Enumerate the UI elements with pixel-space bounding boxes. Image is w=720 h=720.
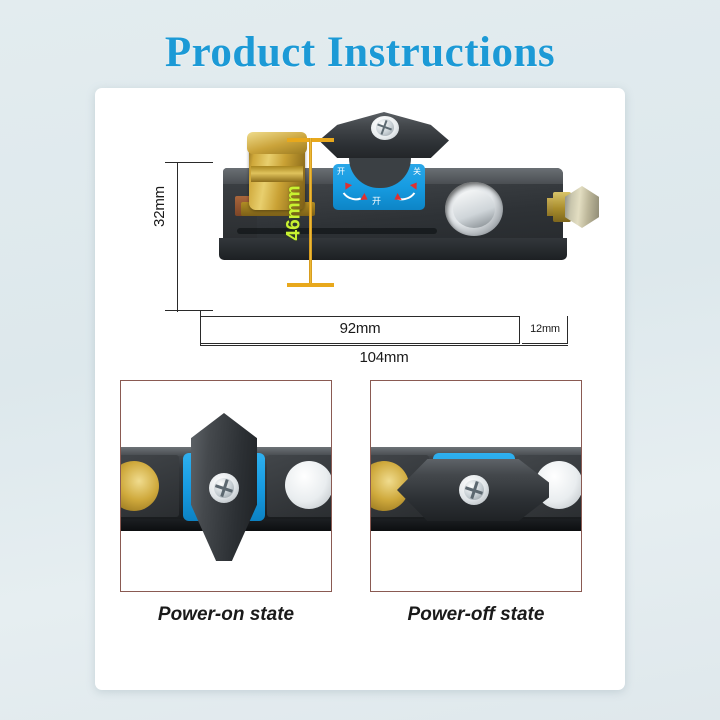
dimension-label-tail-length: 12mm — [522, 323, 568, 335]
main-product-figure: 32mm 开 关 开 — [115, 102, 607, 370]
dimension-ext-height-bottom — [177, 310, 213, 311]
panel-power-on: 关 开 — [120, 380, 332, 592]
panel-on-mounting-hole — [285, 461, 332, 509]
brass-terminal-hex-top — [247, 132, 307, 154]
caption-power-on: Power-on state — [120, 604, 332, 626]
switch-base-lip — [219, 238, 567, 260]
brass-terminal-collar — [251, 166, 303, 182]
dimension-line-knob-height — [309, 138, 312, 286]
caption-power-off: Power-off state — [370, 604, 582, 626]
label-char-off-right: 关 — [413, 166, 421, 177]
dimension-tick-knob-bottom — [287, 283, 334, 287]
dimension-label-height: 32mm — [151, 186, 168, 227]
dimension-label-body-length: 92mm — [200, 320, 520, 337]
page-title: Product Instructions — [0, 28, 720, 77]
mounting-hole-inner — [453, 190, 495, 228]
dimension-line-total — [200, 345, 568, 346]
label-char-on-center: 开 — [372, 194, 381, 207]
switch-base-groove — [237, 228, 437, 234]
dimension-ext-height-top — [177, 162, 213, 163]
product-photo: 开 关 开 — [213, 110, 607, 315]
panel-power-off: 关 开 开 — [370, 380, 582, 592]
label-char-on-left: 开 — [337, 166, 345, 177]
dimension-label-knob-height: 46mm — [283, 186, 305, 241]
content-card: 32mm 开 关 开 — [95, 88, 625, 690]
dimension-label-total-length: 104mm — [200, 349, 568, 366]
dimension-line-height — [177, 162, 178, 312]
